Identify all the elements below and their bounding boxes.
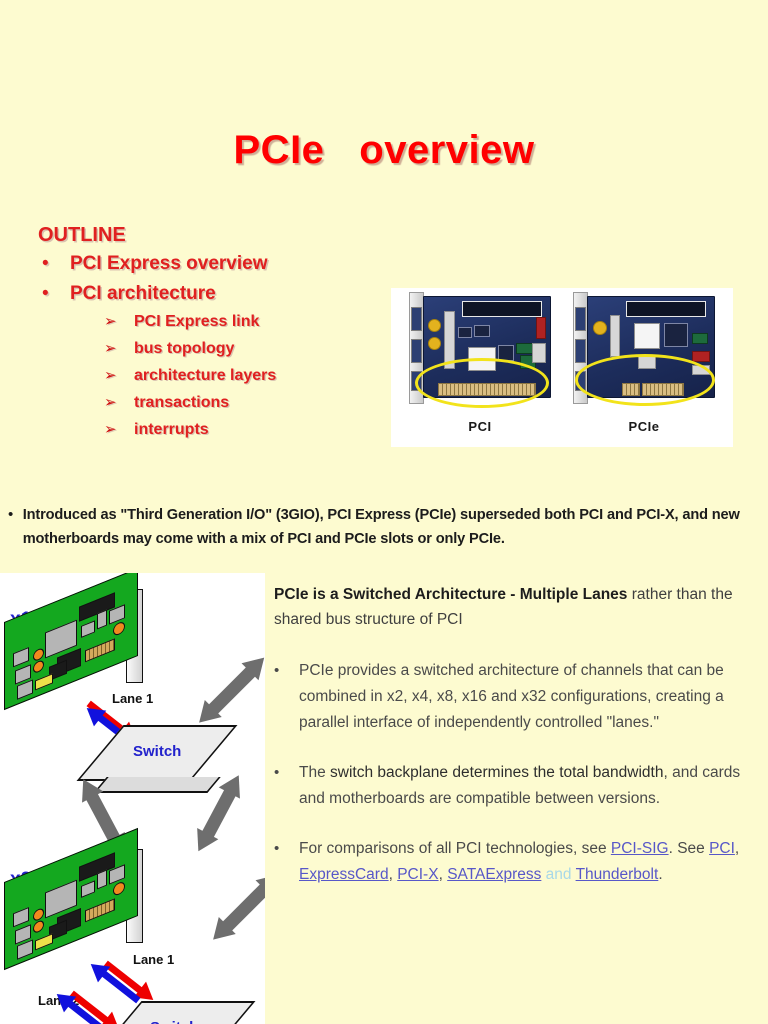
outline-subitem-label: architecture layers [134,364,276,388]
lead-bold-text: PCIe is a Switched Architecture - Multip… [274,586,627,603]
pin-header [462,301,542,317]
outline-subitem-transactions[interactable]: ➢ transactions [38,391,388,415]
pcie-connector-highlight-ellipse [575,354,715,406]
bullet-item-backplane-bandwidth: • The switch backplane determines the to… [274,760,754,812]
outline-subitem-architecture-layers[interactable]: ➢ architecture layers [38,364,388,388]
bullet-text: For comparisons of all PCI technologies,… [299,836,751,888]
bullet-icon: • [42,281,70,307]
arrow-bullet-icon: ➢ [104,337,134,361]
pci-caption: PCI [407,419,553,434]
right-text-column: PCIe is a Switched Architecture - Multip… [274,582,754,888]
switch-label-bottom: Switch [150,1019,198,1024]
outline-subitem-label: interrupts [134,418,209,442]
link-thunderbolt[interactable]: Thunderbolt [576,866,659,883]
conjunction-and: and [541,866,575,883]
intro-paragraph-text: Introduced as "Third Generation I/O" (3G… [23,503,760,551]
outline-subitem-label: transactions [134,391,229,415]
bullet-text-prefix: The [299,764,330,781]
text-see-separator: . See [669,840,710,857]
switch-label-top: Switch [133,743,181,760]
separator: , [735,840,739,857]
outline-subitem-label: PCI Express link [134,310,259,334]
intro-paragraph: • Introduced as "Third Generation I/O" (… [8,503,760,551]
pin-header [626,301,706,317]
arrow-bullet-icon: ➢ [104,418,134,442]
outline-subitem-interrupts[interactable]: ➢ interrupts [38,418,388,442]
arrow-bullet-icon: ➢ [104,391,134,415]
bullet-text-prefix: For comparisons of all PCI technologies,… [299,840,611,857]
switch-fanout-arrow-upper-right [191,649,265,732]
bullet-icon: • [274,658,299,684]
bullet-item-switched-architecture: • PCIe provides a switched architecture … [274,658,754,736]
outline-block: OUTLINE • PCI Express overview • PCI arc… [38,224,388,442]
bullet-icon: • [274,760,299,786]
outline-item-label: PCI architecture [70,281,216,307]
pcie-caption: PCIe [571,419,717,434]
outline-heading: OUTLINE [38,224,388,247]
bullet-icon: • [8,503,23,527]
bullet-icon: • [42,251,70,277]
separator: , [439,866,448,883]
pci-card-image: PCI [407,296,553,408]
link-expresscard[interactable]: ExpressCard [299,866,389,883]
lead-paragraph: PCIe is a Switched Architecture - Multip… [274,582,754,632]
pcie-card-image: PCIe [571,296,717,408]
switch-fanout-arrow-bottom-right [205,866,265,949]
period: . [658,866,662,883]
outline-item-pci-express-overview[interactable]: • PCI Express overview [38,251,388,277]
pci-connector-highlight-ellipse [415,358,549,408]
outline-subitem-label: bus topology [134,337,234,361]
lane-1-label-bottom: Lane 1 [133,952,174,967]
link-pci-sig[interactable]: PCI-SIG [611,840,669,857]
outline-item-label: PCI Express overview [70,251,268,277]
bullet-icon: • [274,836,299,862]
lane-1-label-top: Lane 1 [112,691,153,706]
bullet-text-emphasis: switch backplane determines the total ba… [330,764,663,781]
arrow-bullet-icon: ➢ [104,310,134,334]
arrow-bullet-icon: ➢ [104,364,134,388]
outline-item-pci-architecture[interactable]: • PCI architecture [38,281,388,307]
bullet-item-comparisons-links: • For comparisons of all PCI technologie… [274,836,754,888]
outline-subitem-pci-express-link[interactable]: ➢ PCI Express link [38,310,388,334]
pcie-lanes-diagram: x1 PCIe Lane 1 [0,573,265,1024]
separator: , [389,866,398,883]
pci-pcie-comparison-photo: PCI PCIe [391,288,733,447]
page-title: PCIe overview [0,128,768,173]
outline-subitem-bus-topology[interactable]: ➢ bus topology [38,337,388,361]
slide-canvas: PCIe overview OUTLINE • PCI Express over… [0,0,768,1024]
bullet-text: The switch backplane determines the tota… [299,760,751,812]
link-pci-x[interactable]: PCI-X [397,866,438,883]
link-sataexpress[interactable]: SATAExpress [447,866,541,883]
bullet-text: PCIe provides a switched architecture of… [299,658,751,736]
link-pci[interactable]: PCI [709,840,735,857]
